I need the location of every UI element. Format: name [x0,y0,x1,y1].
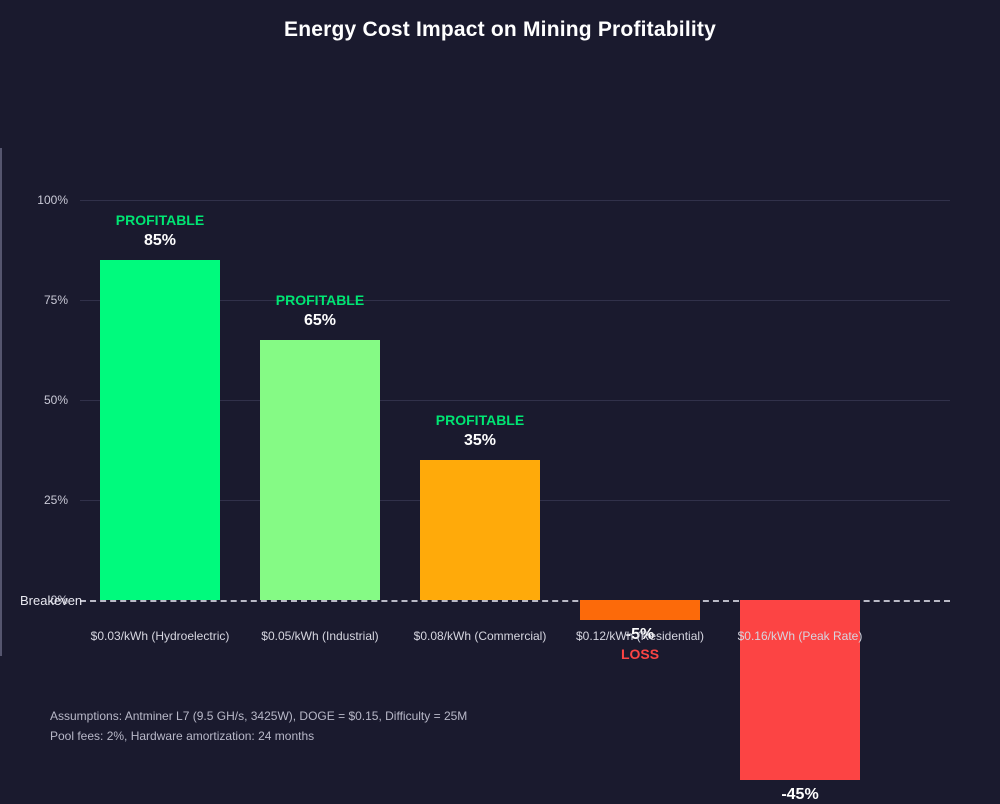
breakeven-label: Breakeven [20,593,82,608]
bar-status-label: PROFITABLE [240,292,400,308]
bar-status-label: PROFITABLE [400,412,560,428]
y-axis-tick-label: 25% [4,494,68,506]
bar[interactable] [420,460,540,600]
y-axis-tick-label: 75% [4,294,68,306]
chart-title: Energy Cost Impact on Mining Profitabili… [0,18,1000,42]
y-axis-line [0,148,2,656]
bar[interactable] [260,340,380,600]
bar-value-label: 65% [240,312,400,330]
y-axis-tick-label: 50% [4,394,68,406]
bar-status-label: LOSS [560,646,720,662]
assumptions-line-2: Pool fees: 2%, Hardware amortization: 24… [50,729,314,743]
chart-container: Energy Cost Impact on Mining Profitabili… [0,0,1000,800]
bar-value-label: -45% [720,786,880,804]
gridline [80,200,950,201]
bar-value-label: 35% [400,432,560,450]
bar-status-label: PROFITABLE [80,212,240,228]
y-axis-tick-label: 100% [4,194,68,206]
bar[interactable] [100,260,220,600]
bar[interactable] [580,600,700,620]
x-axis-tick-label: $0.16/kWh (Peak Rate) [700,629,900,643]
bar[interactable] [740,600,860,780]
bar-value-label: 85% [80,232,240,250]
assumptions-line-1: Assumptions: Antminer L7 (9.5 GH/s, 3425… [50,709,467,723]
